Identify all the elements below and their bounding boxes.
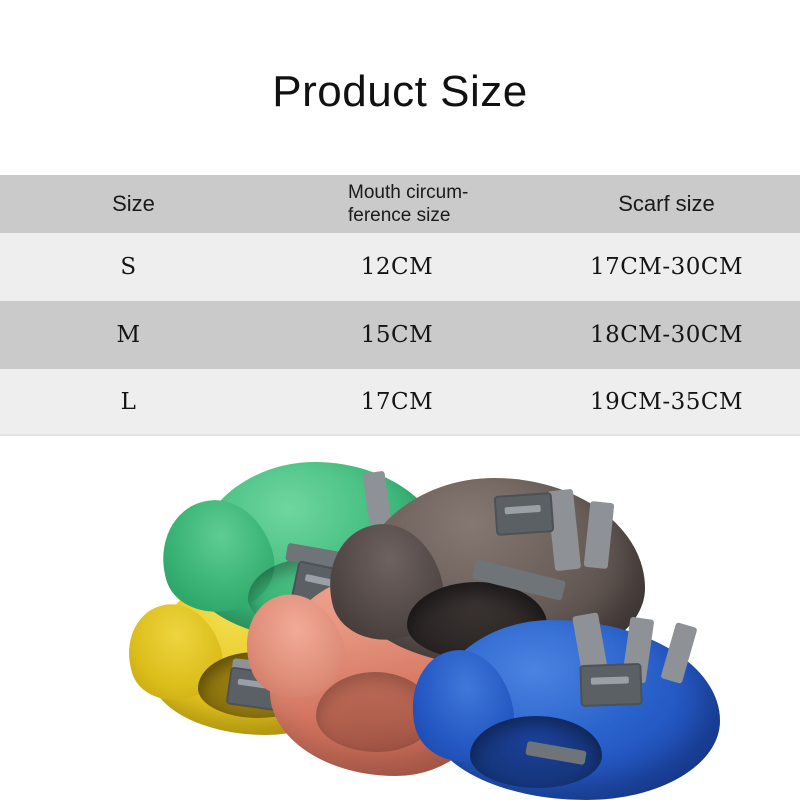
table-header-row: Size Mouth circum- ference size Scarf si… xyxy=(0,175,800,233)
cell-size: S xyxy=(0,233,267,301)
cell-scarf-size: 17CM-30CM xyxy=(533,233,800,301)
cell-mouth-circumference: 17CM xyxy=(267,369,533,434)
cell-scarf-size: 18CM-30CM xyxy=(533,301,800,369)
blue-muzzle xyxy=(430,620,720,800)
cell-size: M xyxy=(0,301,267,369)
product-photo xyxy=(0,440,800,800)
buckle-slot xyxy=(504,505,540,514)
table-row: S 12CM 17CM-30CM xyxy=(0,233,800,301)
table-row: L 17CM 19CM-35CM xyxy=(0,369,800,436)
muzzle-buckle xyxy=(579,663,642,707)
cell-mouth-circumference: 12CM xyxy=(267,233,533,301)
cell-mouth-circumference: 15CM xyxy=(267,301,533,369)
column-header-scarf-size: Scarf size xyxy=(533,175,800,233)
muzzle-buckle xyxy=(494,492,555,536)
column-header-mouth-circumference-label: Mouth circum- ference size xyxy=(348,181,468,227)
column-header-size: Size xyxy=(0,175,267,233)
buckle-slot xyxy=(591,676,629,684)
cell-size: L xyxy=(0,369,267,434)
page-title: Product Size xyxy=(0,64,800,120)
cell-scarf-size: 19CM-35CM xyxy=(533,369,800,434)
table-row: M 15CM 18CM-30CM xyxy=(0,301,800,369)
size-table: Size Mouth circum- ference size Scarf si… xyxy=(0,175,800,436)
column-header-mouth-circumference: Mouth circum- ference size xyxy=(267,175,533,233)
product-size-page: Product Size Size Mouth circum- ference … xyxy=(0,0,800,800)
